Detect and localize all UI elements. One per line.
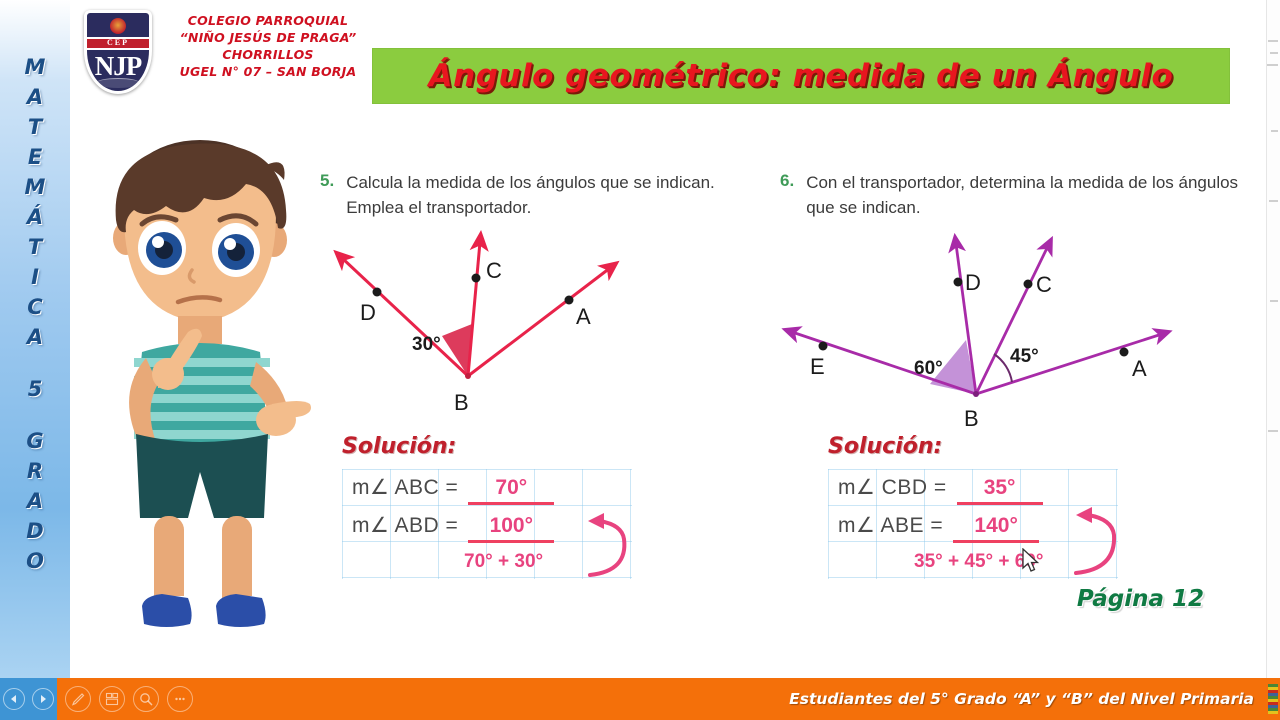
solution-sum-note: 70° + 30° bbox=[464, 551, 543, 573]
svg-text:A: A bbox=[576, 304, 591, 329]
presentation-toolbar: Estudiantes del 5° Grado “A” y “B” del N… bbox=[0, 678, 1280, 720]
magnifier-icon bbox=[139, 692, 153, 706]
sidebar-letter: O bbox=[26, 546, 44, 576]
exercise-5-prompt: Calcula la medida de los ángulos que se … bbox=[346, 170, 770, 220]
solution-row: m∠ ABE = 140° bbox=[838, 513, 1039, 543]
equation-label: m∠ ABD = bbox=[352, 513, 458, 538]
page-number: Página 12 bbox=[1077, 586, 1204, 612]
sidebar-letter: M bbox=[25, 172, 46, 202]
sidebar-letter: T bbox=[28, 232, 42, 262]
zoom-button[interactable] bbox=[133, 686, 159, 712]
sidebar-grade-number: 5 bbox=[28, 374, 43, 404]
exercise-5-number: 5. bbox=[320, 170, 334, 191]
sidebar-letter: A bbox=[27, 486, 43, 516]
solution-grid: m∠ CBD = 35° m∠ ABE = 140° 35° + 45° + 6… bbox=[828, 469, 1118, 579]
exercise-6-figure: E D C A B 60° 45° bbox=[780, 228, 1240, 433]
worksheet-area: 5. Calcula la medida de los ángulos que … bbox=[312, 146, 1240, 646]
next-slide-preview-strip[interactable] bbox=[1266, 0, 1280, 678]
equation-label: m∠ ABC = bbox=[352, 475, 458, 500]
equation-value: 100° bbox=[468, 514, 554, 543]
sidebar-letter: I bbox=[31, 262, 39, 292]
pen-tool-button[interactable] bbox=[65, 686, 91, 712]
school-line: COLEGIO PARROQUIAL bbox=[168, 12, 368, 29]
subject-sidebar: M A T E M Á T I C A 5 G R A D O bbox=[0, 0, 70, 678]
triangle-left-icon bbox=[9, 694, 19, 704]
sidebar-letter: M bbox=[25, 52, 46, 82]
sidebar-letter: D bbox=[26, 516, 43, 546]
school-line: CHORRILLOS bbox=[168, 46, 368, 63]
svg-text:45°: 45° bbox=[1010, 346, 1039, 367]
school-line: “NIÑO JESÚS DE PRAGA” bbox=[168, 29, 368, 46]
shield-icon: CEP NJP bbox=[84, 10, 152, 94]
ellipsis-circle-icon bbox=[173, 692, 187, 706]
torch-icon bbox=[110, 18, 126, 34]
school-name-block: COLEGIO PARROQUIAL “NIÑO JESÚS DE PRAGA”… bbox=[168, 12, 368, 80]
exercise-6-number: 6. bbox=[780, 170, 794, 191]
exercise-6-heading: 6. Con el transportador, determina la me… bbox=[780, 170, 1240, 220]
svg-text:B: B bbox=[964, 406, 979, 428]
slide-title-banner: Ángulo geométrico: medida de un Ángulo bbox=[372, 48, 1230, 104]
svg-text:C: C bbox=[486, 258, 502, 283]
next-slide-button[interactable] bbox=[32, 688, 54, 710]
page-title: Ángulo geométrico: medida de un Ángulo bbox=[429, 58, 1174, 94]
slides-grid-icon bbox=[105, 692, 119, 706]
crest-scroll bbox=[96, 78, 140, 88]
sidebar-letter: G bbox=[26, 426, 43, 456]
school-crest-logo: CEP NJP bbox=[72, 6, 168, 102]
sidebar-letter: A bbox=[27, 322, 43, 352]
svg-text:D: D bbox=[360, 300, 376, 325]
slide-menu-button[interactable] bbox=[99, 686, 125, 712]
crest-njp-text: NJP bbox=[87, 51, 149, 81]
mouse-cursor bbox=[1022, 548, 1040, 574]
presentation-slide: M A T E M Á T I C A 5 G R A D O CEP NJP … bbox=[0, 0, 1280, 720]
curved-arrow-icon bbox=[576, 509, 636, 581]
sidebar-letter: Á bbox=[27, 202, 43, 232]
svg-text:60°: 60° bbox=[914, 358, 943, 379]
solution-row: m∠ CBD = 35° bbox=[838, 475, 1043, 505]
solution-label: Solución: bbox=[342, 434, 762, 459]
exercise-6-prompt: Con el transportador, determina la medid… bbox=[806, 170, 1240, 220]
sidebar-letter: A bbox=[27, 82, 43, 112]
crest-cep-text: CEP bbox=[87, 38, 149, 47]
sidebar-letter: C bbox=[27, 292, 42, 322]
more-options-button[interactable] bbox=[167, 686, 193, 712]
svg-text:D: D bbox=[965, 270, 981, 295]
school-line: UGEL N° 07 – SAN BORJA bbox=[168, 63, 368, 80]
previous-slide-button[interactable] bbox=[3, 688, 25, 710]
sidebar-letter: E bbox=[28, 142, 42, 172]
sidebar-letter: R bbox=[27, 456, 43, 486]
equation-label: m∠ CBD = bbox=[838, 475, 947, 500]
svg-text:B: B bbox=[454, 390, 469, 415]
solution-label: Solución: bbox=[828, 434, 1248, 459]
equation-label: m∠ ABE = bbox=[838, 513, 943, 538]
solution-row: m∠ ABC = 70° bbox=[352, 475, 554, 505]
exercise-6: 6. Con el transportador, determina la me… bbox=[780, 170, 1240, 433]
toolbar-caption: Estudiantes del 5° Grado “A” y “B” del N… bbox=[789, 690, 1254, 708]
triangle-right-icon bbox=[38, 694, 48, 704]
svg-text:C: C bbox=[1036, 272, 1052, 297]
exercise-5-heading: 5. Calcula la medida de los ángulos que … bbox=[320, 170, 770, 220]
svg-text:30°: 30° bbox=[412, 334, 441, 355]
exercise-5-figure: D C A B 30° bbox=[320, 228, 770, 433]
svg-text:A: A bbox=[1132, 356, 1147, 381]
exercise-5-solution: Solución: m∠ ABC = 70° m∠ ABD = 100° 70°… bbox=[342, 434, 762, 579]
equation-value: 35° bbox=[957, 476, 1043, 505]
svg-text:E: E bbox=[810, 354, 825, 379]
equation-value: 70° bbox=[468, 476, 554, 505]
equation-value: 140° bbox=[953, 514, 1039, 543]
sidebar-letter: T bbox=[28, 112, 42, 142]
solution-grid: m∠ ABC = 70° m∠ ABD = 100° 70° + 30° bbox=[342, 469, 632, 579]
pen-icon bbox=[71, 692, 85, 706]
color-bars-decoration bbox=[1268, 684, 1278, 714]
slide-navigation-group bbox=[0, 678, 57, 720]
boy-thinking-illustration bbox=[96, 136, 312, 644]
curved-arrow-icon bbox=[1066, 503, 1126, 579]
solution-row: m∠ ABD = 100° bbox=[352, 513, 554, 543]
exercise-5: 5. Calcula la medida de los ángulos que … bbox=[320, 170, 770, 433]
